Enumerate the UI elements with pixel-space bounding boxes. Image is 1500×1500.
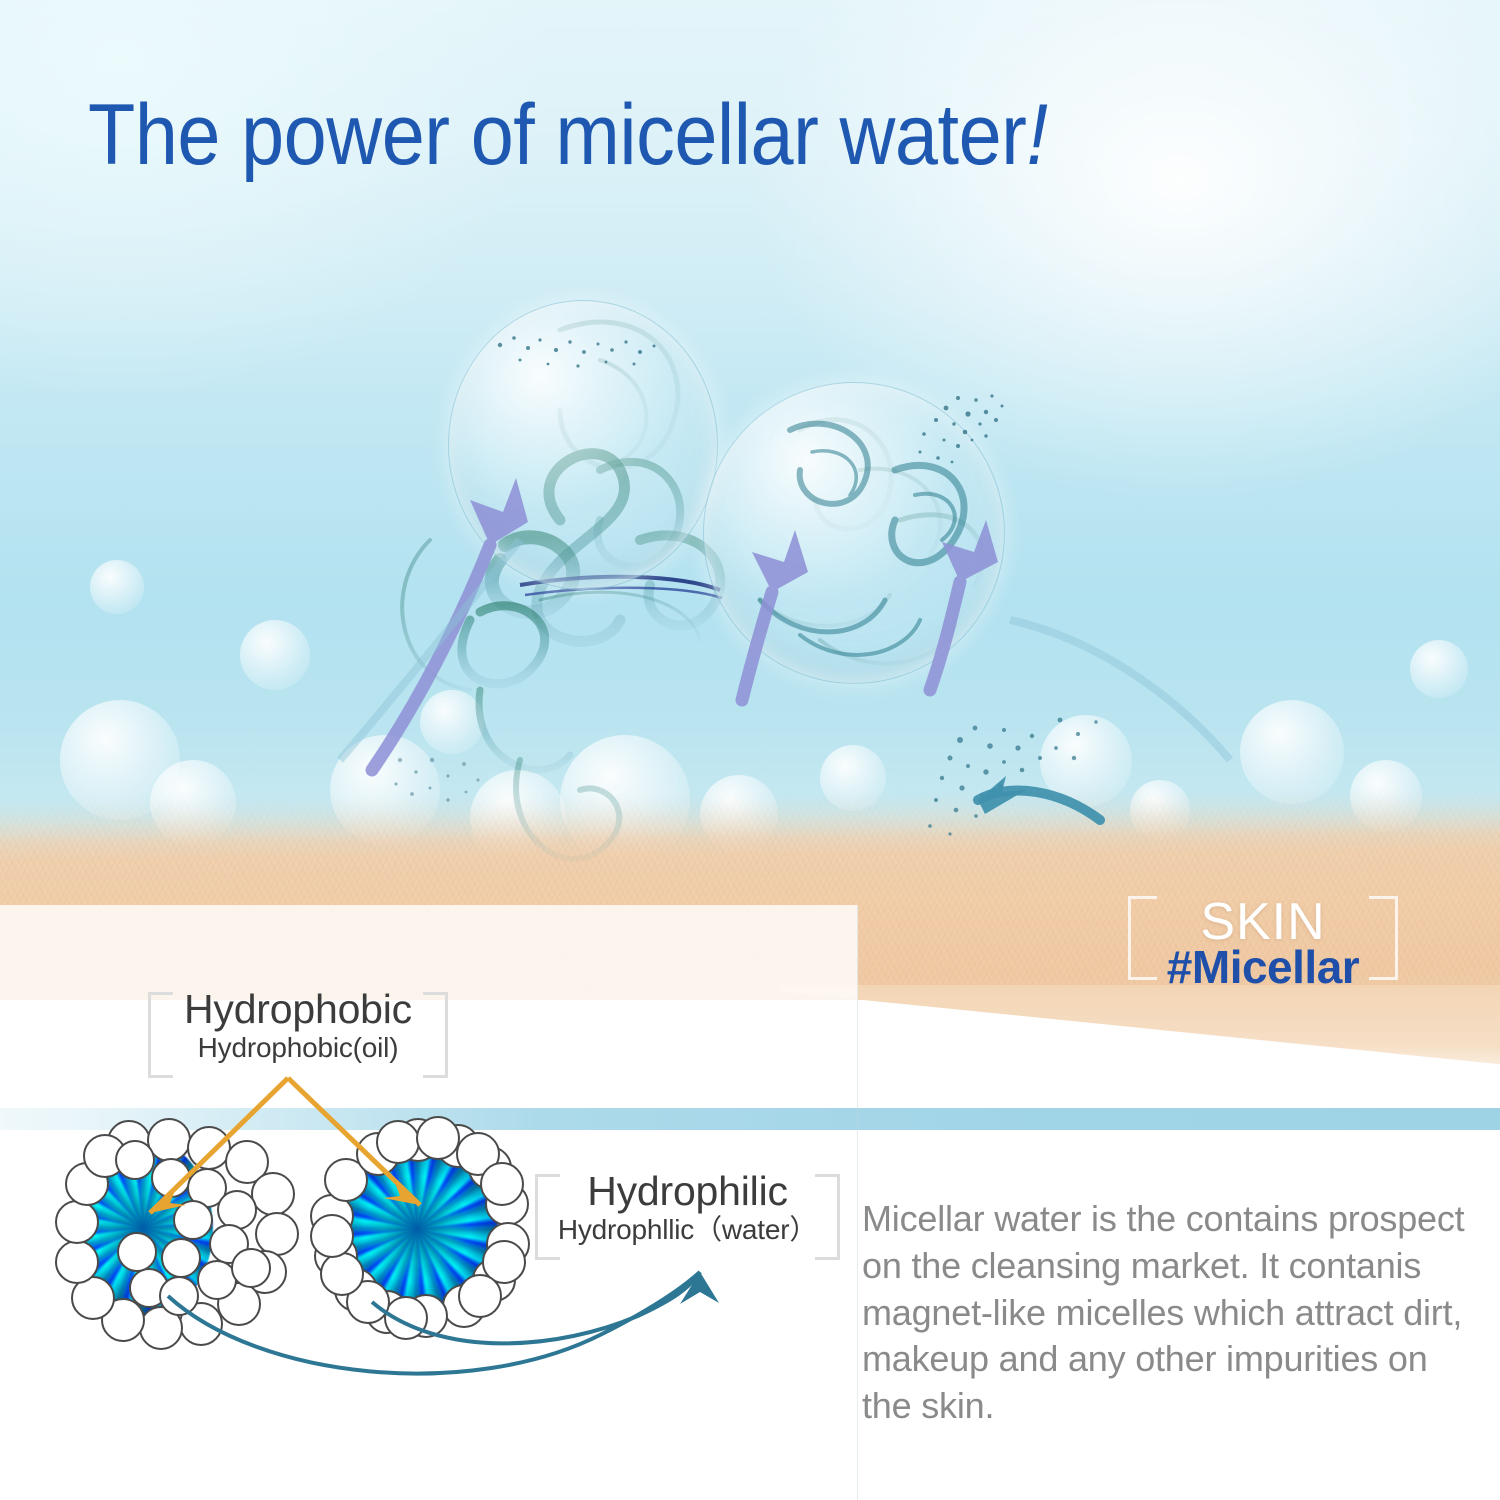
hydrophobic-heading: Hydrophobic [148,988,448,1031]
bubble-shell [703,382,1005,684]
bubble-shell [448,300,718,590]
surfactant-head [231,1248,271,1288]
bracket-left-icon [535,1174,560,1260]
bracket-left-icon [148,992,173,1078]
hydrophilic-heading: Hydrophilic [535,1170,840,1213]
micelle-bubble-right [703,382,1005,684]
surfactant-head [151,1158,191,1198]
surfactant-head [376,1120,420,1164]
surfactant-head [310,1214,354,1258]
skin-badge: SKIN #Micellar [1128,890,1398,1000]
surfactant-head [251,1172,295,1216]
micelle-ring [310,1122,525,1337]
page-title-exclamation: ! [1027,87,1048,183]
micelle-bubble-left [448,300,718,590]
surfactant-head [55,1200,99,1244]
surfactant-head [55,1240,99,1284]
page-title: The power of micellar water! [88,92,1048,178]
body-paragraph: Micellar water is the contains prospect … [862,1196,1477,1430]
surfactant-head [320,1252,364,1296]
surfactant-head [117,1232,157,1272]
surfactant-head [384,1296,428,1340]
micelle-cluster [55,1120,300,1350]
bracket-right-icon [423,992,448,1078]
bracket-right-icon [815,1174,840,1260]
panel-vertical-edge [857,905,858,1500]
hydrophilic-subheading: Hydrophllic（water） [535,1215,840,1246]
surfactant-head [480,1162,524,1206]
micellar-water-infographic: The power of micellar water! SKIN #Micel… [0,0,1500,1500]
surfactant-head [458,1274,502,1318]
hero-scene: The power of micellar water! SKIN #Micel… [0,0,1500,1000]
page-title-text: The power of micellar water [88,87,1027,183]
surfactant-head [161,1238,201,1278]
callout-hydrophobic: Hydrophobic Hydrophobic(oil) [148,988,448,1088]
surfactant-head [416,1116,460,1160]
surfactant-head [173,1200,213,1240]
surfactant-head [159,1276,199,1316]
surfactant-head [115,1140,155,1180]
hydrophobic-subheading: Hydrophobic(oil) [148,1033,448,1064]
callout-hydrophilic: Hydrophilic Hydrophllic（water） [535,1170,840,1270]
